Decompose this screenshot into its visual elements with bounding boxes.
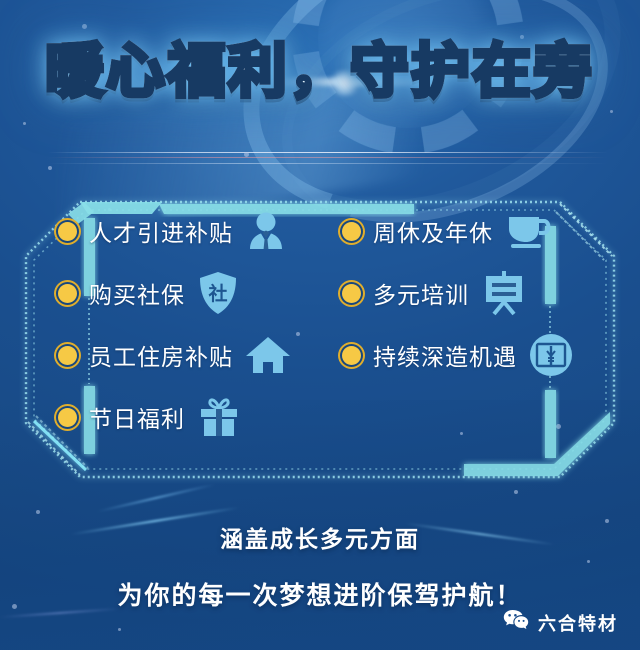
coffee-cup-icon — [505, 212, 553, 250]
footer-text: 涵盖成长多元方面 为你的每一次梦想进阶保驾护航！ — [0, 520, 640, 612]
brand-name: 六合特材 — [538, 610, 618, 636]
footer-line-2: 为你的每一次梦想进阶保驾护航！ — [0, 576, 640, 612]
shield-icon-character: 社 — [207, 282, 227, 305]
particle-dot — [118, 628, 121, 631]
benefit-item-housing-subsidy[interactable]: 员工住房补贴 — [58, 324, 291, 386]
hairline-top — [48, 152, 608, 153]
benefit-item-talent-subsidy[interactable]: 人才引进补贴 — [58, 200, 291, 262]
brand-block[interactable]: 六合特材 — [503, 609, 618, 636]
particle-dot — [514, 490, 518, 494]
bullet-icon — [58, 346, 77, 365]
benefit-label: 购买社保 — [89, 276, 185, 310]
benefit-label: 员工住房补贴 — [89, 338, 233, 372]
book-yuan-icon — [529, 333, 573, 377]
particle-dot — [244, 152, 249, 157]
benefits-right-column: 周休及年休 多元培训 — [342, 200, 573, 386]
shield-social-insurance-icon: 社 — [197, 271, 239, 315]
gift-icon — [197, 396, 241, 438]
bullet-icon — [58, 222, 77, 241]
particle-dot — [48, 166, 52, 170]
poster-title: 暖心福利，守护在旁 — [45, 40, 594, 104]
benefit-item-holiday-benefits[interactable]: 节日福利 — [58, 386, 291, 448]
benefit-item-diverse-training[interactable]: 多元培训 — [342, 262, 573, 324]
hairline-bottom — [48, 163, 608, 164]
benefit-item-weekly-annual-leave[interactable]: 周休及年休 — [342, 200, 573, 262]
poster-title-container: 暖心福利，守护在旁 — [0, 40, 640, 104]
presentation-board-icon — [481, 270, 527, 316]
particle-dot — [36, 510, 40, 514]
particle-dot — [610, 110, 613, 113]
benefits-poster: 暖心福利，守护在旁 — [0, 0, 640, 650]
benefits-left-column: 人才引进补贴 购买社保 社 — [58, 200, 291, 448]
bullet-icon — [58, 408, 77, 427]
benefit-label: 周休及年休 — [373, 214, 493, 248]
benefit-label: 人才引进补贴 — [89, 214, 233, 248]
hairline-middle — [48, 157, 608, 158]
wechat-icon — [503, 609, 529, 636]
particle-dot — [82, 24, 87, 29]
house-icon — [245, 335, 291, 375]
bullet-icon — [342, 284, 361, 303]
benefit-item-social-insurance[interactable]: 购买社保 社 — [58, 262, 291, 324]
bullet-icon — [58, 284, 77, 303]
bullet-icon — [342, 222, 361, 241]
benefits-list: 人才引进补贴 购买社保 社 — [24, 200, 616, 479]
benefit-label: 节日福利 — [89, 400, 185, 434]
light-streak — [97, 484, 214, 513]
benefit-label: 持续深造机遇 — [373, 338, 517, 372]
bullet-icon — [342, 346, 361, 365]
benefit-label: 多元培训 — [373, 276, 469, 310]
footer-line-1: 涵盖成长多元方面 — [0, 520, 640, 554]
businessman-icon — [245, 211, 287, 251]
particle-dot — [23, 122, 26, 125]
benefit-item-further-study[interactable]: 持续深造机遇 — [342, 324, 573, 386]
